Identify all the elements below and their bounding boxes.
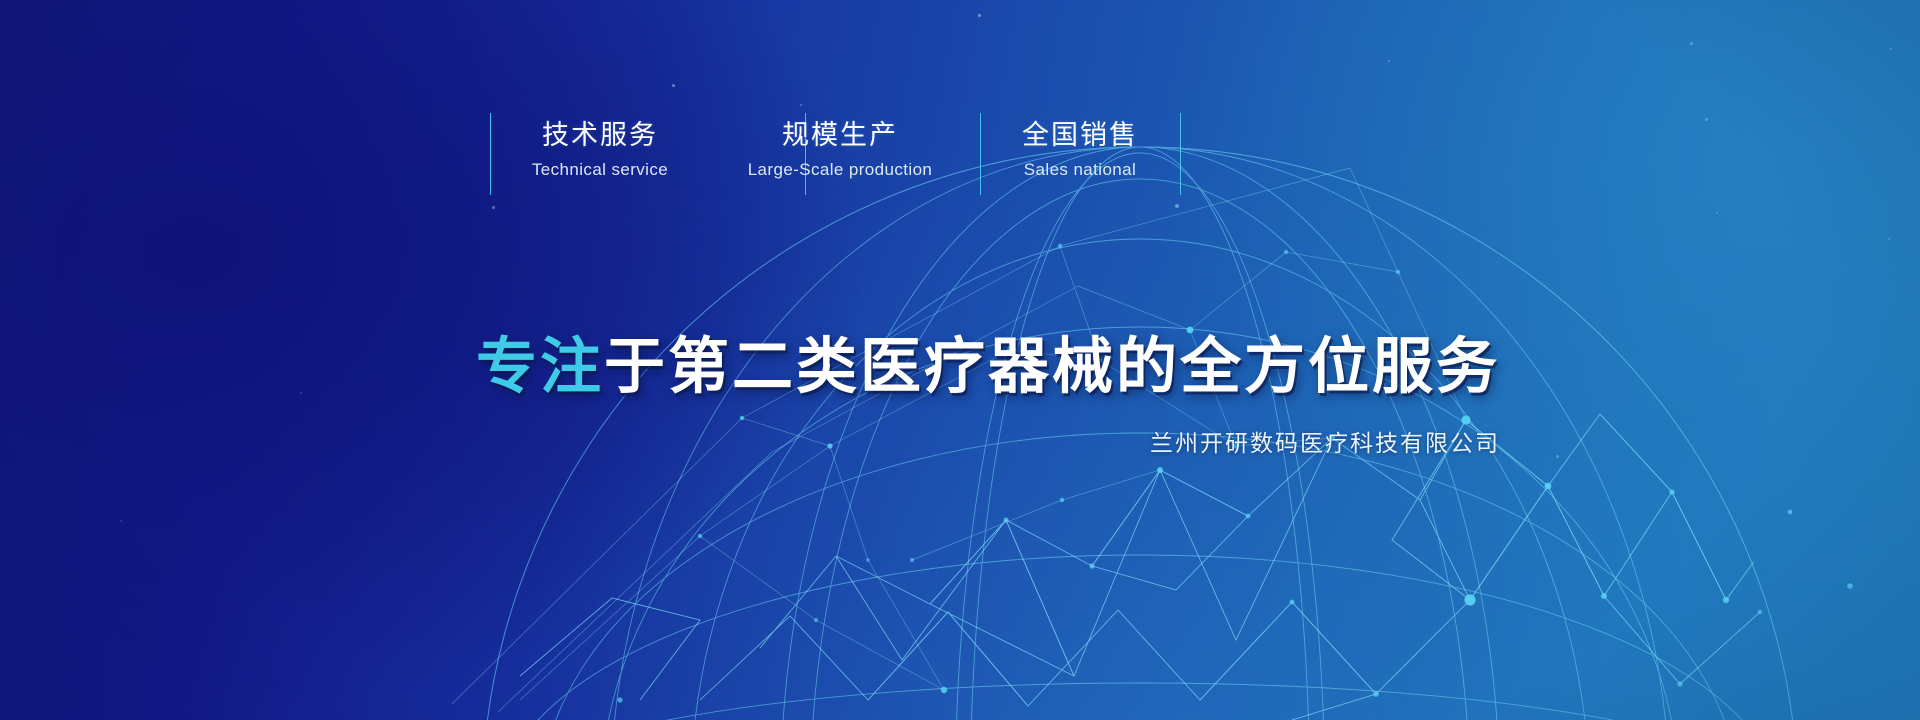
- headline-accent: 专注: [476, 332, 604, 400]
- feature-item-technical-service[interactable]: 技术服务 Technical service: [480, 100, 720, 200]
- company-name: 兰州开研数码医疗科技有限公司: [0, 432, 1500, 455]
- feature-title-en-1: Large-Scale production: [748, 161, 933, 178]
- feature-title-en-2: Sales national: [1024, 161, 1136, 178]
- feature-title-en-0: Technical service: [532, 161, 668, 178]
- feature-title-cn-1: 规模生产: [782, 122, 898, 149]
- feature-item-large-scale-production[interactable]: 规模生产 Large-Scale production: [720, 100, 960, 200]
- feature-title-cn-0: 技术服务: [542, 122, 658, 149]
- feature-item-sales-national[interactable]: 全国销售 Sales national: [960, 100, 1200, 200]
- headline-rest: 于第二类医疗器械的全方位服务: [604, 332, 1500, 400]
- feature-title-cn-2: 全国销售: [1022, 122, 1138, 149]
- headline: 专注于第二类医疗器械的全方位服务: [0, 336, 1500, 397]
- hero-banner: 技术服务 Technical service 规模生产 Large-Scale …: [0, 0, 1920, 720]
- feature-divider-3: [1180, 113, 1181, 195]
- feature-strip: 技术服务 Technical service 规模生产 Large-Scale …: [480, 100, 1200, 200]
